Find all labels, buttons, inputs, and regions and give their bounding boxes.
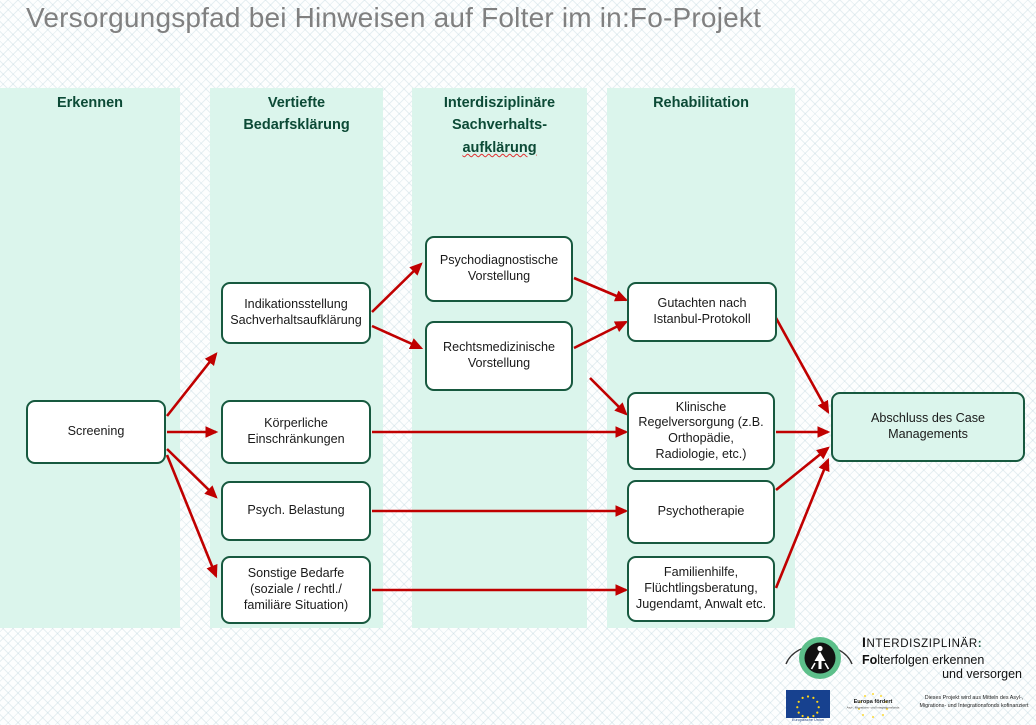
node-psychodiagnostische-label: Psychodiagnostische Vorstellung (433, 253, 565, 284)
phase-header-inter-line1: Interdisziplinäre (444, 95, 555, 111)
logo-line2-rest: lterfolgen erkennen (877, 653, 984, 667)
phase-header-interdisziplinaer: Interdisziplinäre Sachverhalts- aufkläru… (412, 92, 587, 159)
phase-band-rehabilitation: Rehabilitation (607, 88, 795, 628)
node-sonstige-bedarfe[interactable]: Sonstige Bedarfe (soziale / rechtl./ fam… (221, 556, 371, 624)
phase-header-rehabilitation-label: Rehabilitation (653, 95, 749, 111)
logo-line1-rest: NTERDISZIPLINÄR (867, 638, 978, 650)
node-psychotherapie[interactable]: Psychotherapie (627, 480, 775, 544)
phase-header-rehabilitation: Rehabilitation (607, 92, 795, 114)
node-koerperliche-einschraenkungen[interactable]: Körperliche Einschränkungen (221, 400, 371, 464)
node-sonstige-bedarfe-label: Sonstige Bedarfe (soziale / rechtl./ fam… (229, 566, 363, 613)
node-rechtsmedizinische-vorstellung[interactable]: Rechtsmedizinische Vorstellung (425, 321, 573, 391)
node-indikationsstellung-label: Indikationsstellung Sachverhaltsaufkläru… (229, 297, 363, 328)
page-title: Versorgungspfad bei Hinweisen auf Folter… (26, 2, 926, 34)
phase-band-vertiefte-bedarfsklaerung: Vertiefte Bedarfsklärung (210, 88, 383, 628)
node-psychodiagnostische-vorstellung[interactable]: Psychodiagnostische Vorstellung (425, 236, 573, 302)
node-screening[interactable]: Screening (26, 400, 166, 464)
svg-text:Asyl-, Migrations- und Integra: Asyl-, Migrations- und Integrationsfonds (847, 706, 900, 710)
node-gutachten-istanbul-protokoll[interactable]: Gutachten nach Istanbul-Protokoll (627, 282, 777, 342)
node-indikationsstellung[interactable]: Indikationsstellung Sachverhaltsaufkläru… (221, 282, 371, 344)
node-abschluss-label: Abschluss des Case Managements (839, 411, 1017, 442)
eu-flag-caption: Europäische Union (784, 718, 832, 722)
phase-header-inter-line3-spellcheck: aufklärung (462, 140, 536, 156)
node-psychotherapie-label: Psychotherapie (658, 504, 745, 520)
logo-line1-colon: : (978, 638, 982, 650)
eye-logo-icon (784, 631, 856, 683)
node-koerperliche-label: Körperliche Einschränkungen (229, 416, 363, 447)
node-gutachten-label: Gutachten nach Istanbul-Protokoll (635, 296, 769, 327)
logo-line2-bold: Fo (862, 653, 877, 667)
node-screening-label: Screening (68, 424, 125, 440)
node-klinische-label: Klinische Regelversorgung (z.B. Orthopäd… (635, 400, 767, 463)
funding-note: Dieses Projekt wird aus Mitteln des Asyl… (912, 694, 1036, 710)
phase-header-inter-line2: Sachverhalts- (452, 117, 547, 133)
node-familienhilfe[interactable]: Familienhilfe, Flüchtlingsberatung, Juge… (627, 556, 775, 622)
logo-wordmark: INTERDISZIPLINÄR: Folterfolgen erkennen … (862, 634, 1034, 681)
node-rechtsmedizinische-label: Rechtsmedizinische Vorstellung (433, 340, 565, 371)
eu-flag-icon (786, 690, 830, 718)
project-logo-block: INTERDISZIPLINÄR: Folterfolgen erkennen … (782, 628, 1036, 725)
logo-line-interdisziplinaer: INTERDISZIPLINÄR: (862, 634, 1034, 650)
node-psych-belastung[interactable]: Psych. Belastung (221, 481, 371, 541)
europa-foerdert-caption: Europa fördert (854, 699, 893, 705)
node-psych-belastung-label: Psych. Belastung (247, 503, 344, 519)
phase-header-vertiefte-line2: Bedarfsklärung (243, 117, 349, 133)
phase-header-erkennen: Erkennen (0, 92, 180, 114)
phase-header-erkennen-label: Erkennen (57, 95, 123, 111)
phase-band-erkennen: Erkennen (0, 88, 180, 628)
node-klinische-regelversorgung[interactable]: Klinische Regelversorgung (z.B. Orthopäd… (627, 392, 775, 470)
logo-line-folterfolgen: Folterfolgen erkennen (862, 653, 1034, 667)
phase-header-vertiefte: Vertiefte Bedarfsklärung (210, 92, 383, 137)
europa-foerdert-logo: Europa fördert Asyl-, Migrations- und In… (838, 690, 908, 720)
phase-header-vertiefte-line1: Vertiefte (268, 95, 325, 111)
node-abschluss-case-management[interactable]: Abschluss des Case Managements (831, 392, 1025, 462)
logo-line-versorgen: und versorgen (862, 667, 1034, 681)
node-familienhilfe-label: Familienhilfe, Flüchtlingsberatung, Juge… (635, 565, 767, 612)
